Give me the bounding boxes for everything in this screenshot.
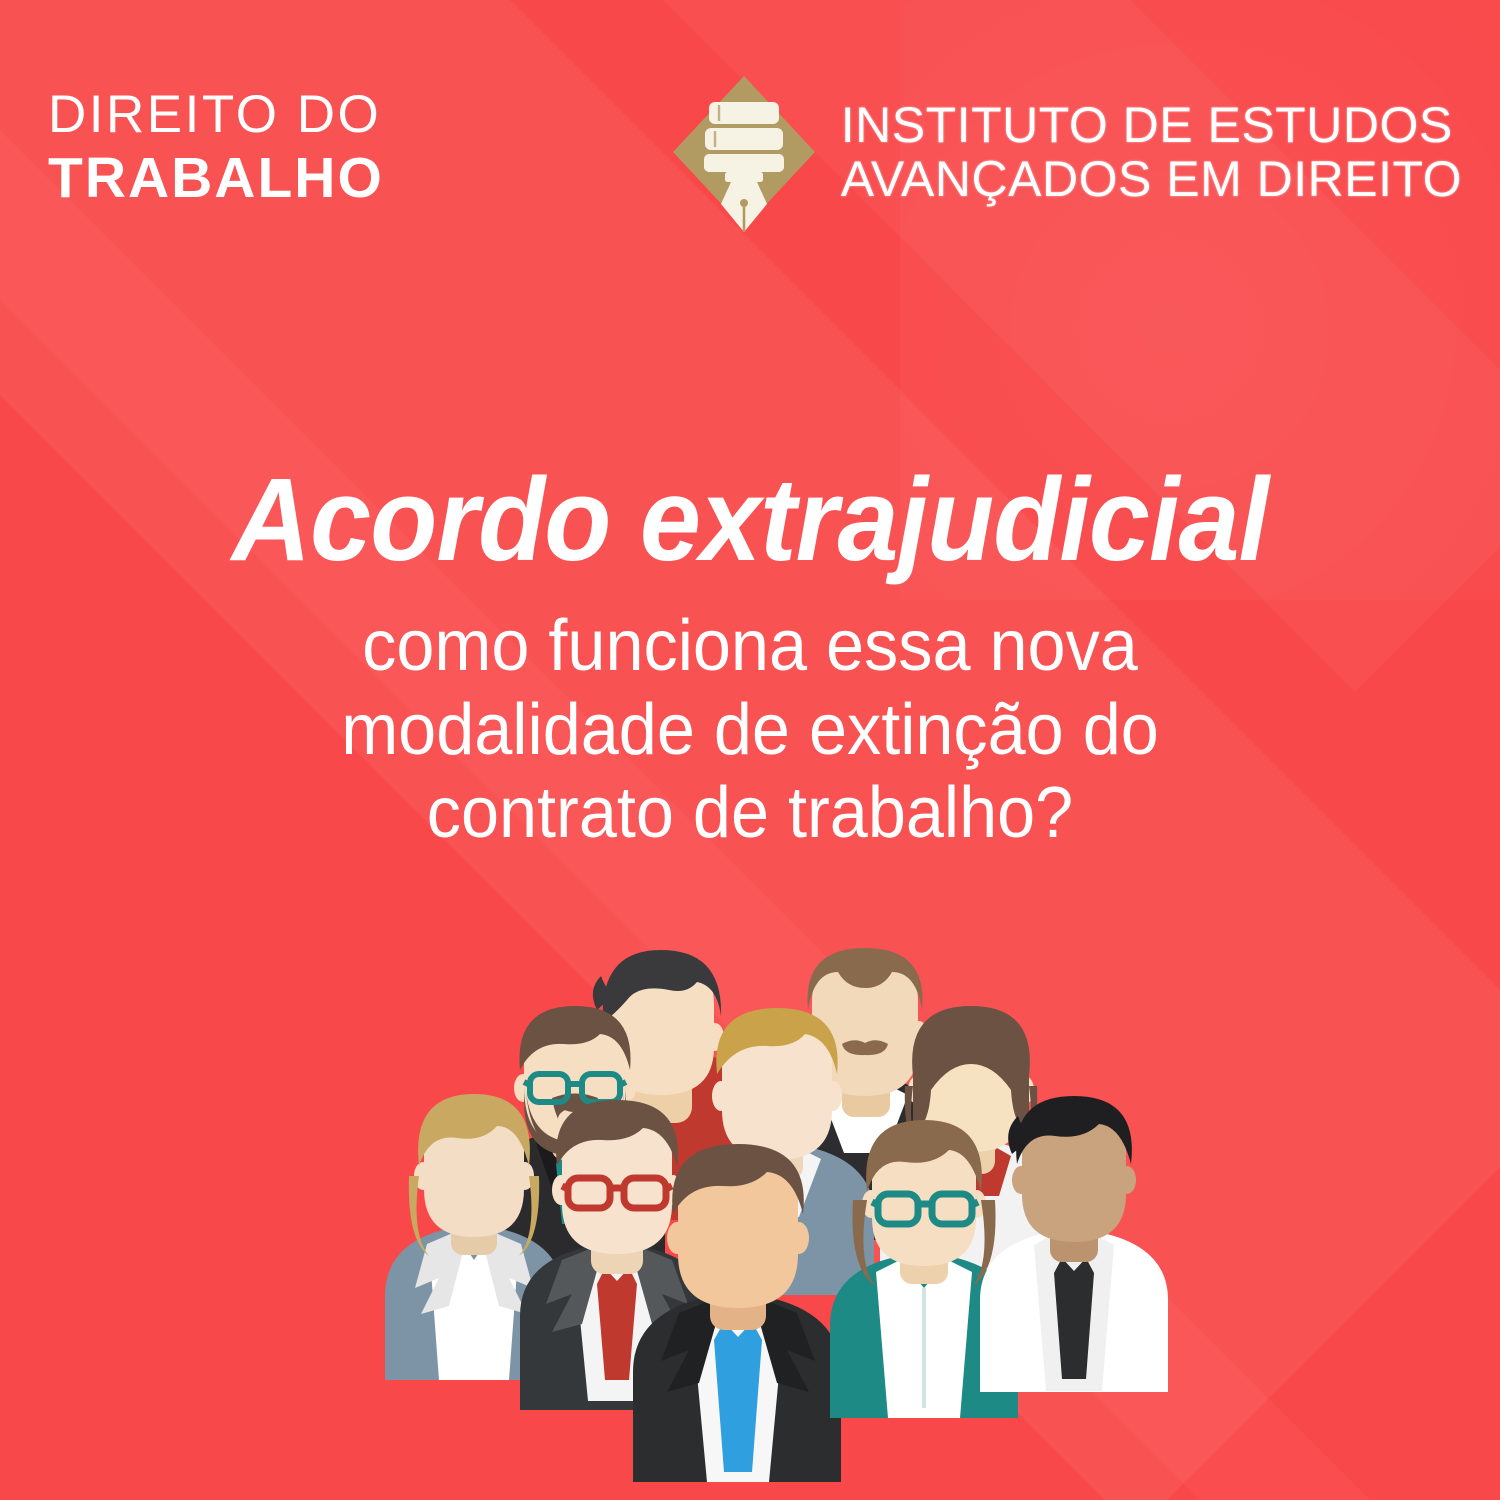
book-stack-pen-nib-diamond-icon [669, 72, 819, 232]
brand-line-2: AVANÇADOS EM DIREITO [841, 152, 1462, 206]
brand-name: INSTITUTO DE ESTUDOS AVANÇADOS EM DIREIT… [841, 98, 1462, 206]
subtitle-line-3: contrato de trabalho? [38, 772, 1463, 856]
page-subtitle: como funciona essa nova modalidade de ex… [38, 605, 1463, 856]
kicker-block: DIREITO DO TRABALHO [48, 88, 384, 207]
kicker-line-1: DIREITO DO [48, 88, 384, 141]
poster-canvas: DIREITO DO TRABALHO [0, 0, 1500, 1500]
subtitle-line-2: modalidade de extinção do [38, 689, 1463, 773]
subtitle-line-1: como funciona essa nova [38, 605, 1463, 689]
page-title: Acordo extrajudicial [53, 452, 1448, 588]
kicker-line-2: TRABALHO [48, 150, 384, 207]
brand-lockup: INSTITUTO DE ESTUDOS AVANÇADOS EM DIREIT… [669, 72, 1462, 232]
brand-line-1: INSTITUTO DE ESTUDOS [841, 98, 1462, 152]
